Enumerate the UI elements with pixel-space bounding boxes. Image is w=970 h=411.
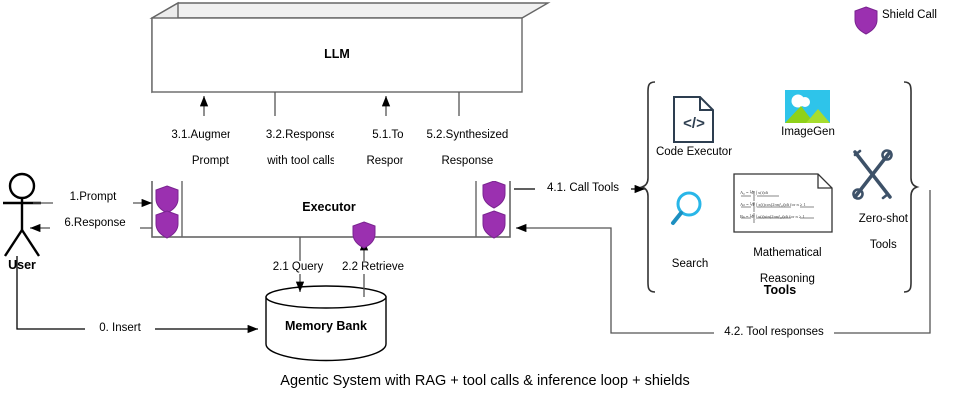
magnifier-icon[interactable] [673, 193, 700, 223]
shield-legend-icon [855, 7, 877, 34]
code-document-icon[interactable]: </> [674, 97, 713, 142]
tool-label-search: Search [659, 258, 721, 271]
augmented-prompt-line2: Prompt [192, 155, 229, 167]
edge-label-tool-responses: 4.2. Tool responses [714, 326, 834, 339]
edge-label-retrieve: 2.2 Retrieve [330, 261, 416, 274]
svg-text:</>: </> [683, 115, 705, 132]
diagram-caption: Agentic System with RAG + tool calls & i… [0, 375, 970, 388]
memory-bank-label: Memory Bank [266, 319, 386, 333]
response-tool-calls-line2: with tool calls [267, 155, 335, 167]
edge-label-query: 2.1 Query [258, 261, 338, 274]
formula-document-icon[interactable]: A₀ = ⅟P ∫ x(t)dt Aₙ = ⅟P ∫ x(t)cos(2πnƒ₀… [734, 174, 832, 232]
edge-label-call-tools: 4.1. Call Tools [535, 182, 631, 195]
edge-label-insert: 0. Insert [85, 322, 155, 335]
tool-label-zero-shot: Zero-shot Tools [840, 200, 914, 265]
image-icon[interactable] [785, 90, 830, 123]
diagram-canvas: </> A₀ = ⅟P ∫ x(t)dt Aₙ = [0, 0, 970, 411]
legend-label: Shield Call [882, 9, 962, 22]
synthesized-line1: 5.2.Synthesized [426, 129, 508, 141]
edge-label-synthesized-response: 5.2.Synthesized Response [403, 116, 519, 181]
zeroshot-line1: Zero-shot [859, 213, 908, 225]
edge-label-response: 6.Response [50, 217, 140, 230]
math-line1: Mathematical [753, 247, 821, 259]
tools-brace-left [642, 82, 655, 292]
user-label: User [0, 259, 44, 272]
user-actor[interactable] [3, 174, 41, 256]
llm-label: LLM [152, 47, 522, 61]
edge-insert [17, 256, 258, 329]
edge-label-prompt: 1.Prompt [53, 191, 133, 204]
tools-group-title: Tools [745, 284, 815, 297]
executor-label: Executor [182, 200, 476, 214]
shield-executor-memory [353, 222, 375, 248]
response-tool-calls-line1: 3.2.Response [266, 129, 337, 141]
crossed-wrench-icon[interactable] [854, 151, 892, 199]
zeroshot-line2: Tools [870, 239, 897, 251]
synthesized-line2: Response [441, 155, 493, 167]
diagram-vector-layer: </> A₀ = ⅟P ∫ x(t)dt Aₙ = [0, 0, 970, 411]
tool-label-code-executor: Code Executor [648, 146, 740, 159]
tool-label-imagegen: ImageGen [772, 126, 844, 139]
